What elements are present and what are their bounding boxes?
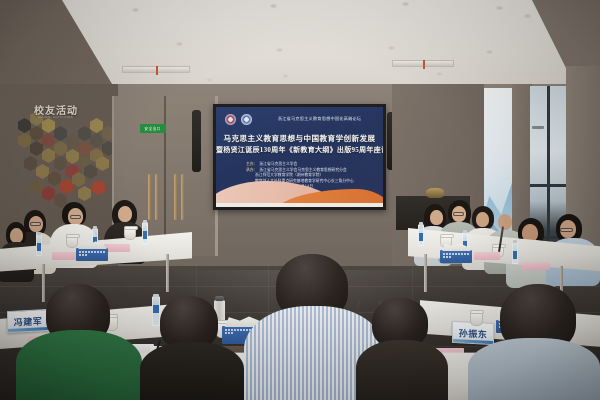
nameplate-left: 冯建军 [7, 309, 49, 333]
screen-wave-white [216, 203, 383, 207]
water-bottle [418, 224, 424, 246]
organizer-text: 浙江师范大学教育学院（湖州教育学院） [255, 173, 323, 177]
document-pink [474, 252, 500, 260]
tea-cup [470, 312, 483, 326]
organization-emblem-right-icon [241, 114, 252, 125]
air-vent-right [392, 60, 454, 67]
screen-title-line-2: 暨杨贤江诞辰130周年《新教育大纲》出版95周年座谈会 [216, 145, 383, 155]
water-bottle [142, 222, 148, 244]
organizer-label: 主办： [246, 162, 257, 166]
water-bottle [512, 242, 518, 264]
screen-header-line: 浙江省马克思主义教育思想中国化高端论坛 [262, 116, 377, 122]
tissue-box [440, 250, 472, 263]
air-vent-left [122, 66, 190, 73]
organizer-text: 浙江省马克思主义学会 [259, 162, 297, 166]
document-pink [522, 262, 550, 270]
wall-display-subtitle: ALUMNI ACTIVITIES [38, 115, 73, 119]
tissue-box [76, 248, 108, 261]
ceiling [0, 0, 600, 96]
conference-room-photo: 校友活动 ALUMNI ACTIVITIES 安全出口 浙江省马克思主义教育思想… [0, 0, 600, 400]
decorative-vase [426, 188, 444, 198]
wall-speaker-left [192, 110, 201, 172]
hexagon-photo-wall: 校友活动 ALUMNI ACTIVITIES [4, 96, 116, 208]
organizer-text: 浙江省马克思主义学会马克思主义教育思想研究分会 [259, 168, 346, 172]
nameplate-right-text: 孙振东 [459, 326, 488, 340]
exit-sign-label: 安全出口 [145, 126, 161, 132]
tea-cup [124, 228, 136, 240]
window-handle[interactable] [532, 126, 544, 129]
screen-title-line-1: 马克思主义教育思想与中国教育学创新发展 [216, 133, 383, 144]
organizer-label: 承办： [246, 168, 257, 172]
organization-emblem-left-icon [225, 114, 236, 125]
water-bottle [152, 296, 160, 326]
nameplate-left-text: 冯建军 [14, 314, 43, 328]
exit-sign: 安全出口 [140, 124, 166, 133]
projection-screen: 浙江省马克思主义教育思想中国化高端论坛 马克思主义教育思想与中国教育学创新发展 … [213, 104, 386, 210]
water-bottle [36, 234, 42, 256]
tea-cup [66, 236, 78, 248]
